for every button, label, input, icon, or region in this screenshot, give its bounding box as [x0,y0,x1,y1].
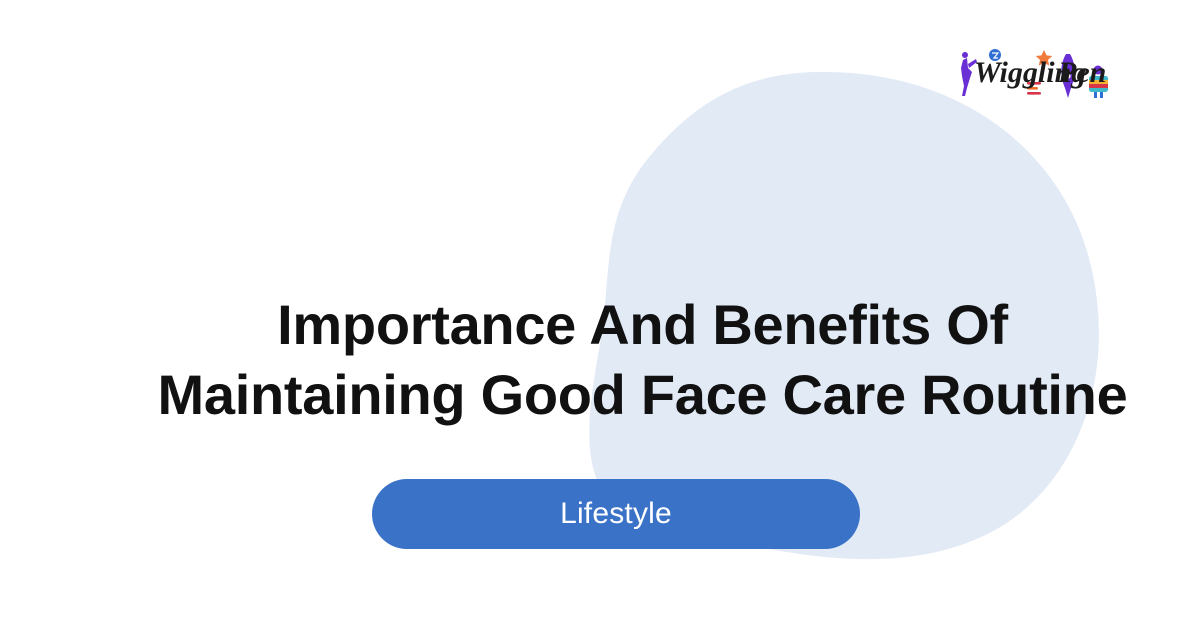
wigglingpen-logo[interactable]: Wiggling Pen [958,46,1110,102]
page-title-line-1: Importance And Benefits Of [0,290,1200,360]
logo-word-pen: Pen [1057,56,1106,89]
featured-image-card: Wiggling Pen Importance And Benefits Of … [0,0,1200,628]
page-title: Importance And Benefits Of Maintaining G… [0,290,1200,430]
category-button-lifestyle[interactable]: Lifestyle [372,479,860,549]
page-title-line-2: Maintaining Good Face Care Routine [0,360,1200,430]
wigglingpen-logo-mark: Wiggling Pen [958,46,1110,102]
